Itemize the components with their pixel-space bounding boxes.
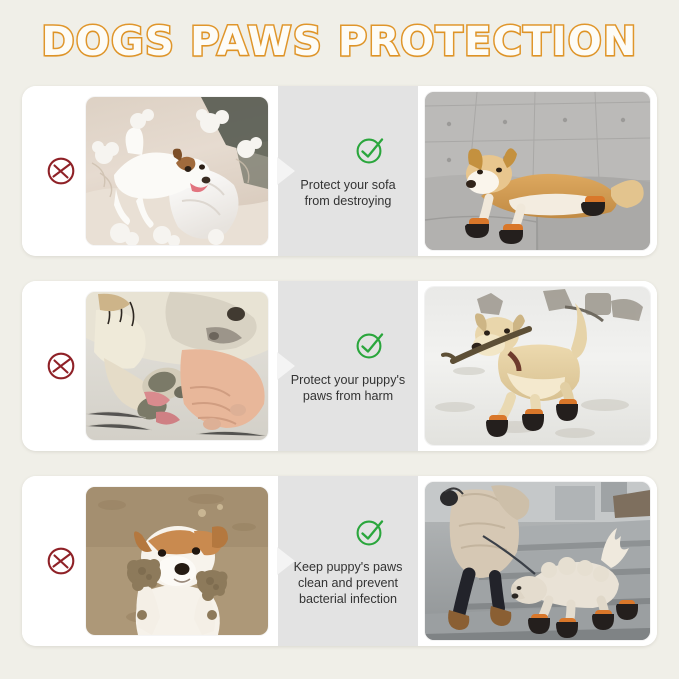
caption-line: clean and prevent (286, 575, 410, 591)
chevron-right-icon (277, 346, 299, 386)
feature-row: Keep puppy's paws clean and prevent bact… (22, 476, 657, 646)
solution-caption: Keep puppy's paws clean and prevent bact… (286, 559, 410, 607)
check-circle-icon (353, 329, 385, 366)
poodle-on-stairs-photo (425, 482, 650, 640)
solution-text-panel: Protect your sofa from destroying (278, 86, 418, 256)
solution-cell (418, 86, 657, 256)
cross-circle-icon (40, 349, 82, 383)
solution-cell (418, 281, 657, 451)
feature-row: Protect your sofa from destroying (22, 86, 657, 256)
header: DOGS PAWS PROTECTION (0, 14, 679, 70)
page-title: DOGS PAWS PROTECTION (41, 19, 637, 65)
check-circle-icon (353, 134, 385, 171)
dog-destroying-pillow-photo (86, 97, 268, 245)
caption-line: Keep puppy's paws (286, 559, 410, 575)
caption-line: Protect your sofa (286, 177, 410, 193)
solution-caption: Protect your sofa from destroying (286, 177, 410, 209)
muddy-paws-photo (86, 487, 268, 635)
problem-cell (22, 476, 278, 646)
chevron-right-icon (277, 151, 299, 191)
caption-line: Protect your puppy's (286, 372, 410, 388)
cross-circle-icon (40, 544, 82, 578)
problem-cell (22, 281, 278, 451)
shiba-on-sofa-photo (425, 92, 650, 250)
cross-circle-icon (40, 154, 82, 188)
solution-caption: Protect your puppy's paws from harm (286, 372, 410, 404)
solution-text-panel: Protect your puppy's paws from harm (278, 281, 418, 451)
caption-line: from destroying (286, 193, 410, 209)
caption-line: paws from harm (286, 388, 410, 404)
labrador-in-snow-photo (425, 287, 650, 445)
check-circle-icon (353, 516, 385, 553)
solution-cell (418, 476, 657, 646)
injured-paw-photo (86, 292, 268, 440)
feature-row: Protect your puppy's paws from harm (22, 281, 657, 451)
caption-line: bacterial infection (286, 591, 410, 607)
chevron-right-icon (277, 541, 299, 581)
problem-cell (22, 86, 278, 256)
solution-text-panel: Keep puppy's paws clean and prevent bact… (278, 476, 418, 646)
